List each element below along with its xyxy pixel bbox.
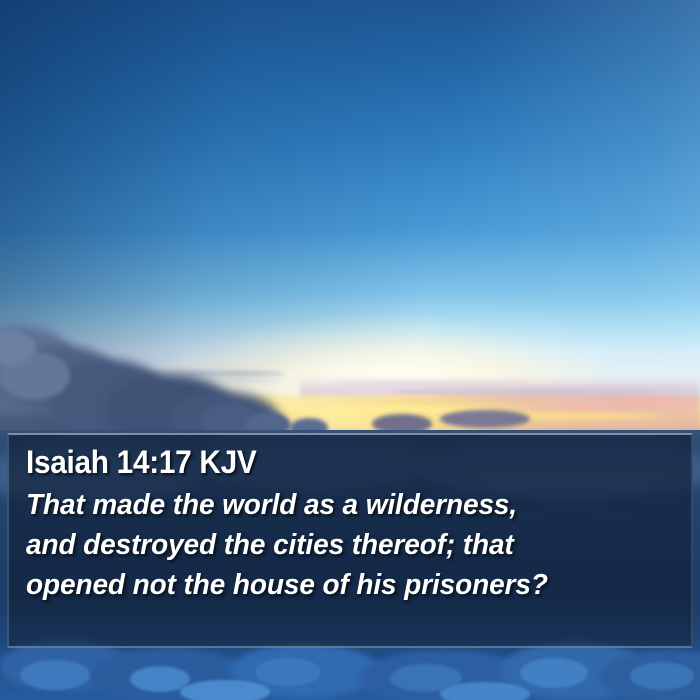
verse-overlay-panel: Isaiah 14:17 KJV That made the world as … xyxy=(7,433,693,648)
verse-line: and destroyed the cities thereof; that xyxy=(26,525,652,565)
cloud-puff xyxy=(180,680,270,700)
cloud-puff xyxy=(440,682,530,700)
cloud-puff xyxy=(630,662,694,690)
cloud-puff xyxy=(20,660,90,690)
pink-streak xyxy=(600,396,700,405)
cloud-puff xyxy=(255,658,321,686)
verse-image: Isaiah 14:17 KJV That made the world as … xyxy=(0,0,700,700)
verse-text: That made the world as a wilderness, and… xyxy=(26,485,675,605)
verse-line: That made the world as a wilderness, xyxy=(26,485,652,525)
verse-reference: Isaiah 14:17 KJV xyxy=(26,444,630,482)
verse-line: opened not the house of his prisoners? xyxy=(26,565,652,605)
cloud-puff xyxy=(520,658,588,688)
cumulus-cloud xyxy=(440,410,530,428)
pink-streak xyxy=(520,404,700,411)
